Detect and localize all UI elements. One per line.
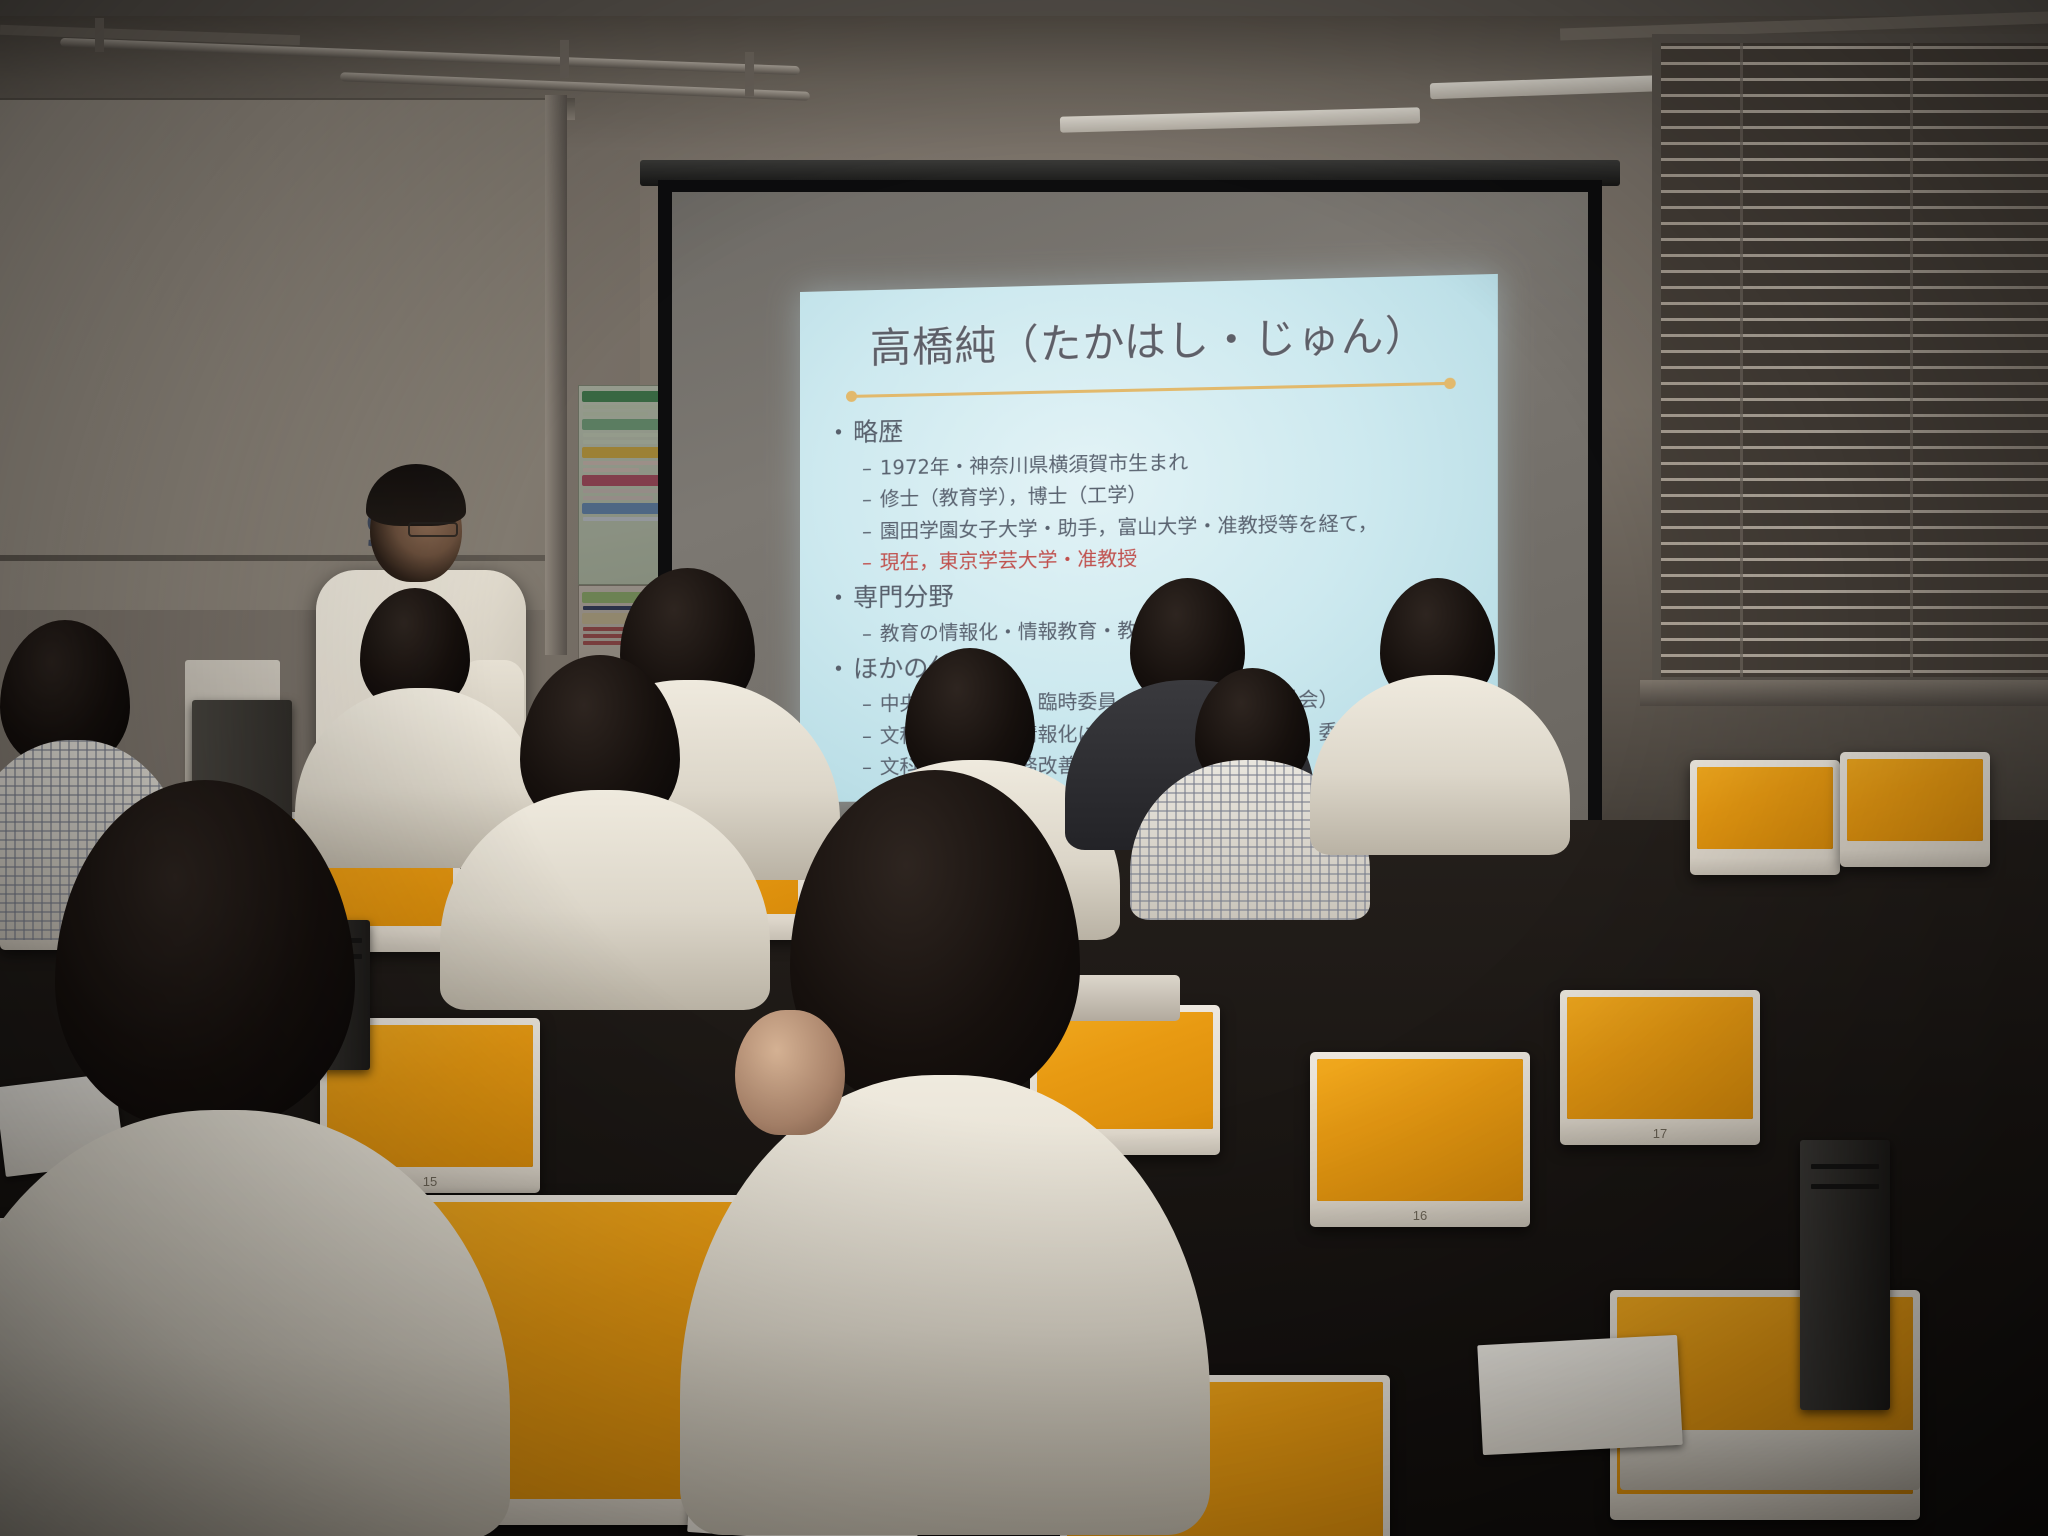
- pipe-hanger-3: [745, 52, 754, 96]
- bullet-marker: ・: [826, 418, 851, 448]
- student-hand: [735, 1010, 845, 1135]
- presenter-glasses: [408, 522, 458, 537]
- lecture-room-photo: 95: [0, 0, 2048, 1536]
- monitor-label: 16: [1413, 1208, 1427, 1223]
- pipe-hanger: [95, 18, 104, 52]
- presenter-hair: [366, 464, 466, 526]
- monitor-label: 15: [423, 1174, 437, 1189]
- monitor[interactable]: [1840, 752, 1990, 867]
- slide-title-rule: [846, 378, 1456, 401]
- monitor-label: 17: [1653, 1126, 1667, 1141]
- pc-tower: [1800, 1140, 1890, 1410]
- window-sill: [1640, 680, 2048, 706]
- monitor[interactable]: 17: [1560, 990, 1760, 1145]
- monitor[interactable]: [1690, 760, 1840, 875]
- window-frame: [1652, 34, 2048, 686]
- rule-dot-right: [1444, 378, 1456, 390]
- ceiling-beam: [0, 0, 2048, 16]
- rule-bar: [852, 382, 1449, 398]
- pipe-hanger-2: [560, 40, 569, 78]
- paper-sheet: [1477, 1335, 1682, 1455]
- slide-bullet-highlight: –現在，東京学芸大学・准教授: [862, 536, 1479, 575]
- monitor[interactable]: 16: [1310, 1052, 1530, 1227]
- slide-title: 高橋純（たかはし・じゅん）: [822, 299, 1479, 375]
